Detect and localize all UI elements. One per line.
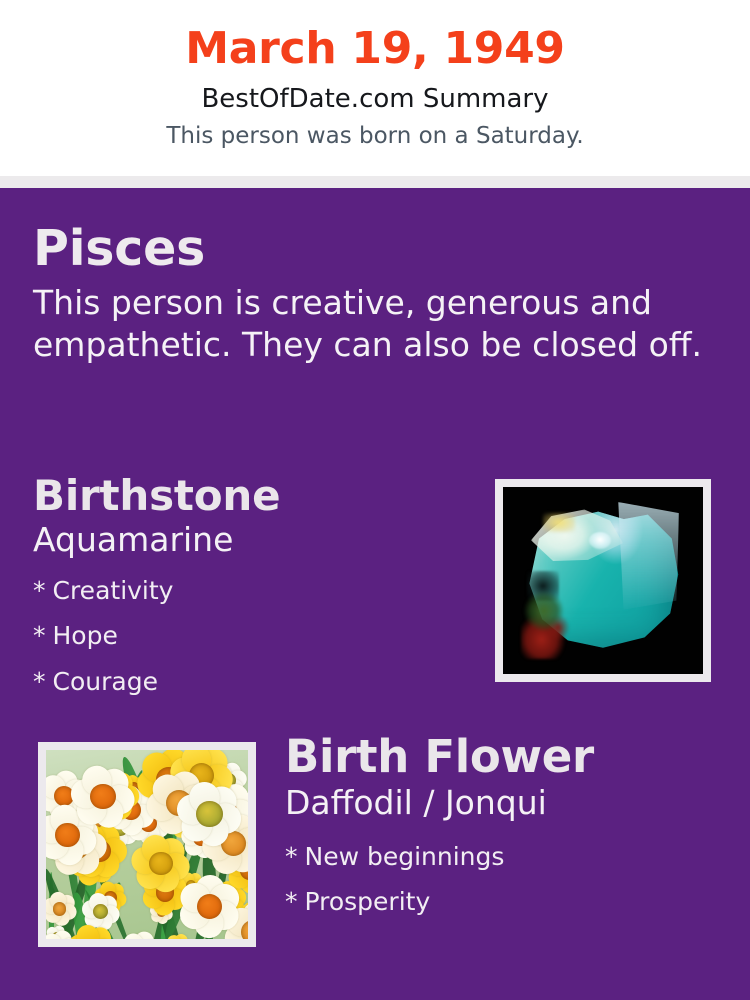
daffodil-field-photo xyxy=(46,750,248,939)
petal-shape xyxy=(132,929,156,939)
petal-shape xyxy=(80,899,101,920)
flower-cup xyxy=(197,894,222,919)
list-item: *Hope xyxy=(33,613,473,659)
header-divider xyxy=(0,176,750,188)
list-item-label: New beginnings xyxy=(305,842,505,871)
birthflower-section: Birth Flower Daffodil / Jonqui *New begi… xyxy=(285,733,725,924)
petal-shape xyxy=(175,895,214,934)
list-item-label: Hope xyxy=(53,621,118,650)
petal-ring xyxy=(131,834,190,893)
petal-shape xyxy=(195,874,225,904)
flower-cup xyxy=(93,904,108,919)
flower-cup xyxy=(241,920,248,939)
petal-shape xyxy=(240,900,248,931)
birthflower-name: Daffodil / Jonqui xyxy=(285,783,725,823)
petal-shape xyxy=(46,771,70,804)
site-summary-label: BestOfDate.com Summary xyxy=(0,81,750,119)
asterisk-icon: * xyxy=(285,887,298,916)
petal-shape xyxy=(131,856,169,894)
petal-shape xyxy=(69,776,103,810)
list-item: *Prosperity xyxy=(285,879,725,924)
petal-shape xyxy=(223,837,248,877)
petal-ring xyxy=(177,782,242,847)
petal-shape xyxy=(48,891,67,910)
birthstone-heading: Birthstone xyxy=(33,473,473,518)
flower-cup xyxy=(196,801,222,827)
crystal-highlight xyxy=(589,532,611,549)
list-item: *Courage xyxy=(33,659,473,705)
petal-shape xyxy=(247,923,248,939)
flower-cup xyxy=(53,902,67,916)
petal-shape xyxy=(46,896,61,916)
zodiac-section: Pisces This person is creative, generous… xyxy=(33,223,713,366)
birth-date-title: March 19, 1949 xyxy=(0,24,750,75)
flower-cup xyxy=(55,823,79,847)
petal-ring xyxy=(71,764,135,828)
list-item-label: Prosperity xyxy=(305,887,431,916)
list-item-label: Courage xyxy=(53,667,158,696)
petal-ring xyxy=(178,875,241,938)
petal-shape xyxy=(239,871,248,895)
asterisk-icon: * xyxy=(285,842,298,871)
flower-cup xyxy=(90,784,116,810)
crystal-red-inclusion xyxy=(521,584,581,659)
petal-shape xyxy=(129,844,161,876)
list-item: *Creativity xyxy=(33,568,473,614)
petal-shape xyxy=(78,761,116,799)
asterisk-icon: * xyxy=(33,667,46,696)
birthflower-trait-list: *New beginnings *Prosperity xyxy=(285,834,725,924)
daffodil-bloom xyxy=(177,782,242,847)
petal-shape xyxy=(145,788,180,823)
summary-page: March 19, 1949 BestOfDate.com Summary Th… xyxy=(0,0,750,1000)
daffodil-bloom xyxy=(178,875,241,938)
birthstone-name: Aquamarine xyxy=(33,520,473,560)
zodiac-description: This person is creative, generous and em… xyxy=(33,282,703,366)
list-item: *New beginnings xyxy=(285,834,725,879)
asterisk-icon: * xyxy=(33,621,46,650)
petal-shape xyxy=(173,933,190,939)
details-panel: Pisces This person is creative, generous… xyxy=(0,188,750,1000)
birthstone-section: Birthstone Aquamarine *Creativity *Hope … xyxy=(33,473,473,704)
asterisk-icon: * xyxy=(33,576,46,605)
daffodil-bloom xyxy=(131,834,190,893)
birthstone-image-frame xyxy=(495,479,711,682)
crystal-yellow-patch xyxy=(543,513,575,532)
petal-shape xyxy=(91,938,116,939)
aquamarine-crystal-photo xyxy=(503,487,703,674)
petal-shape xyxy=(235,933,248,939)
list-item-label: Creativity xyxy=(53,576,174,605)
petal-shape xyxy=(46,826,74,865)
petal-shape xyxy=(194,908,224,938)
birthflower-heading: Birth Flower xyxy=(285,733,725,782)
petal-shape xyxy=(46,811,70,847)
birthflower-image-frame xyxy=(38,742,256,947)
birthstone-trait-list: *Creativity *Hope *Courage xyxy=(33,568,473,705)
birth-weekday-text: This person was born on a Saturday. xyxy=(0,120,750,152)
zodiac-sign-title: Pisces xyxy=(33,223,713,274)
flower-cup xyxy=(149,852,173,876)
daffodil-bloom xyxy=(71,764,135,828)
page-header: March 19, 1949 BestOfDate.com Summary Th… xyxy=(0,0,750,176)
petal-shape xyxy=(153,893,176,916)
